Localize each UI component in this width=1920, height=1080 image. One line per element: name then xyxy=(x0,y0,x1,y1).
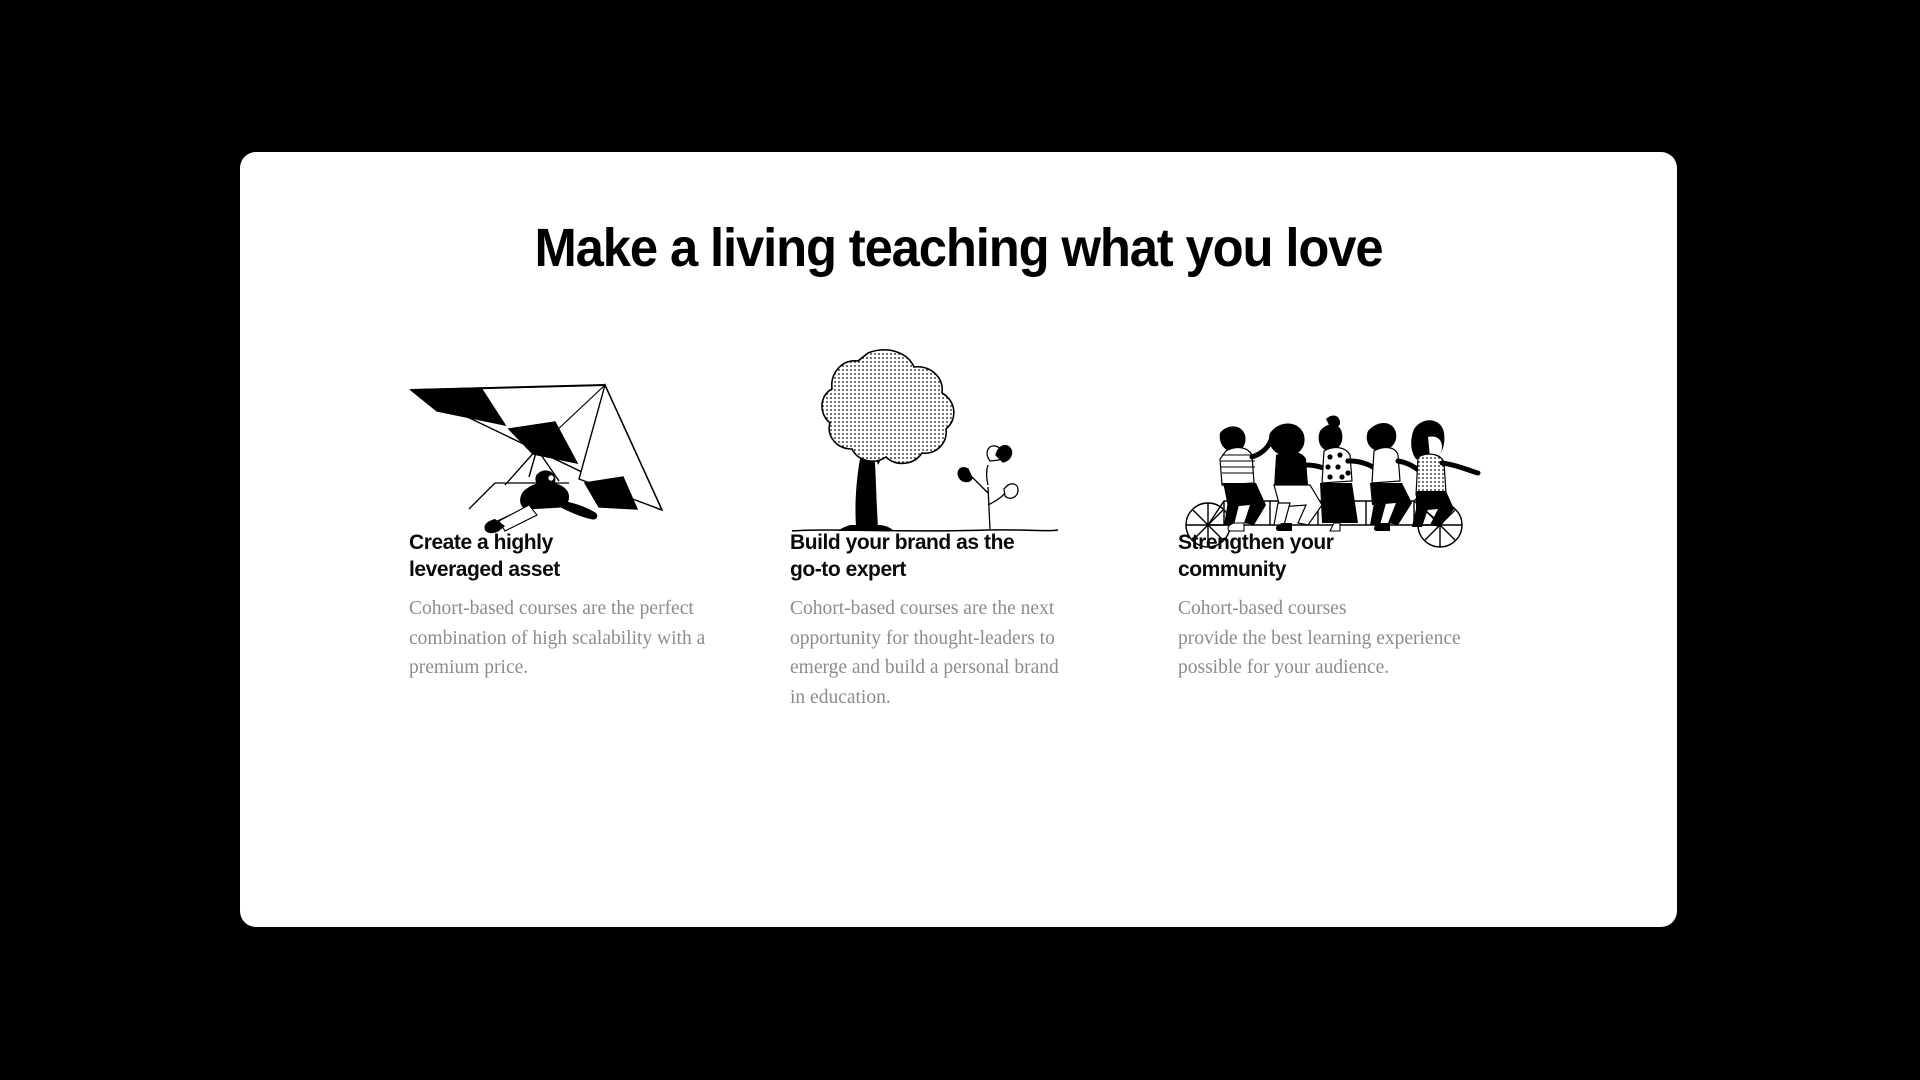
hang-glider-illustration xyxy=(409,307,739,557)
feature-card-panel: Make a living teaching what you love xyxy=(240,152,1677,927)
feature-body-1: Cohort-based courses are the perfect com… xyxy=(409,594,739,683)
feature-body-3: Cohort-based courses provide the best le… xyxy=(1178,594,1508,683)
tandem-bicycle-group-illustration xyxy=(1178,307,1508,557)
feature-title-2: Build your brand as the go-to expert xyxy=(790,530,1120,584)
feature-title-1: Create a highly leveraged asset xyxy=(409,530,739,584)
feature-body-2: Cohort-based courses are the next opport… xyxy=(790,594,1060,713)
feature-columns: Create a highly leveraged asset Cohort-b… xyxy=(240,152,1677,927)
feature-title-3: Strengthen your community xyxy=(1178,530,1508,584)
screen-root: Make a living teaching what you love xyxy=(0,0,1920,1080)
tree-and-sapling-illustration xyxy=(790,307,1120,557)
